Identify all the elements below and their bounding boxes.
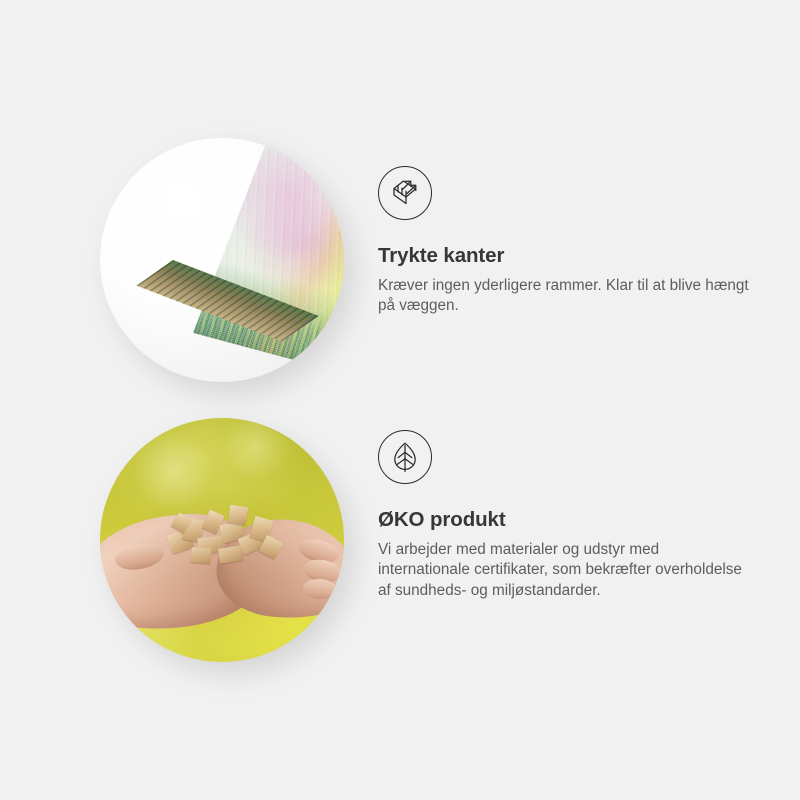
feature-title: ØKO produkt (378, 508, 758, 533)
canvas-print-corner-photo (100, 138, 344, 382)
feature-printed-edges: Trykte kanter Kræver ingen yderligere ra… (0, 120, 800, 400)
leaf-icon (378, 430, 432, 484)
eco-product-text-block: ØKO produkt Vi arbejder med materialer o… (378, 430, 758, 602)
green-meadow-backdrop (100, 418, 344, 662)
printed-edges-text-block: Trykte kanter Kræver ingen yderligere ra… (378, 166, 758, 317)
feature-title: Trykte kanter (378, 244, 758, 269)
feature-description: Kræver ingen yderligere rammer. Klar til… (378, 276, 750, 318)
canvas-wrapped-edge-icon (378, 166, 432, 220)
hands-holding-wood-chips-photo (100, 418, 344, 662)
canvas-weave-texture (193, 142, 344, 382)
white-disc-backdrop (100, 138, 344, 382)
feature-description: Vi arbejder med materialer og udstyr med… (378, 540, 750, 602)
palm-shadow (100, 418, 344, 662)
canvas-painted-face (193, 142, 344, 382)
product-features-panel: Trykte kanter Kræver ingen yderligere ra… (0, 0, 800, 800)
feature-eco-product: ØKO produkt Vi arbejder med materialer o… (0, 400, 800, 680)
